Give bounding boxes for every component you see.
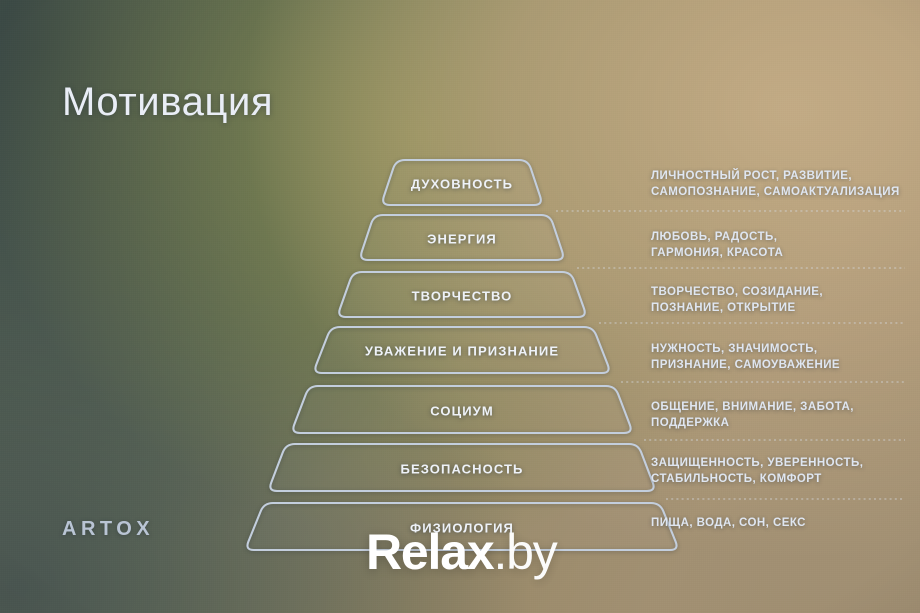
pyramid-tier-description: ЗАЩИЩЕННОСТЬ, УВЕРЕННОСТЬ,СТАБИЛЬНОСТЬ, … xyxy=(651,455,863,487)
artox-logo: ARTOX xyxy=(62,518,154,541)
watermark-tld-text: .by xyxy=(493,524,556,580)
presentation-slide: Мотивация ДУХОВНОСТЬЭНЕРГИЯТВОРЧЕСТВОУВА… xyxy=(0,0,920,613)
watermark-main-text: Relax xyxy=(366,524,493,580)
description-line: ЗАЩИЩЕННОСТЬ, УВЕРЕННОСТЬ, xyxy=(651,455,863,471)
pyramid-tier-label: ЭНЕРГИЯ xyxy=(427,231,497,246)
description-line: ЛЮБОВЬ, РАДОСТЬ, xyxy=(651,229,783,245)
description-line: ГАРМОНИЯ, КРАСОТА xyxy=(651,245,783,261)
pyramid-tier-description: ЛЮБОВЬ, РАДОСТЬ,ГАРМОНИЯ, КРАСОТА xyxy=(651,229,783,261)
description-line: САМОПОЗНАНИЕ, САМОАКТУАЛИЗАЦИЯ xyxy=(651,184,900,200)
pyramid-tier-description: НУЖНОСТЬ, ЗНАЧИМОСТЬ,ПРИЗНАНИЕ, САМОУВАЖ… xyxy=(651,341,840,373)
pyramid-tier-description: ПИЩА, ВОДА, СОН, СЕКС xyxy=(651,515,806,531)
pyramid-tier-label: ТВОРЧЕСТВО xyxy=(412,288,513,303)
relax-by-watermark: Relax.by xyxy=(366,527,557,577)
pyramid-tier-label: СОЦИУМ xyxy=(430,403,494,418)
page-title: Мотивация xyxy=(62,80,273,125)
description-line: ПОЗНАНИЕ, ОТКРЫТИЕ xyxy=(651,300,823,316)
pyramid-tier-description: ЛИЧНОСТНЫЙ РОСТ, РАЗВИТИЕ,САМОПОЗНАНИЕ, … xyxy=(651,168,900,200)
description-line: ЛИЧНОСТНЫЙ РОСТ, РАЗВИТИЕ, xyxy=(651,168,900,184)
pyramid-tier-description: ТВОРЧЕСТВО, СОЗИДАНИЕ,ПОЗНАНИЕ, ОТКРЫТИЕ xyxy=(651,284,823,316)
description-line: ТВОРЧЕСТВО, СОЗИДАНИЕ, xyxy=(651,284,823,300)
description-line: НУЖНОСТЬ, ЗНАЧИМОСТЬ, xyxy=(651,341,840,357)
description-line: ПИЩА, ВОДА, СОН, СЕКС xyxy=(651,515,806,531)
description-line: ОБЩЕНИЕ, ВНИМАНИЕ, ЗАБОТА, xyxy=(651,399,854,415)
pyramid-tier-description: ОБЩЕНИЕ, ВНИМАНИЕ, ЗАБОТА,ПОДДЕРЖКА xyxy=(651,399,854,431)
description-line: ПРИЗНАНИЕ, САМОУВАЖЕНИЕ xyxy=(651,357,840,373)
pyramid-tier-label: УВАЖЕНИЕ И ПРИЗНАНИЕ xyxy=(365,344,559,359)
description-line: СТАБИЛЬНОСТЬ, КОМФОРТ xyxy=(651,471,863,487)
description-line: ПОДДЕРЖКА xyxy=(651,415,854,431)
pyramid-tier-label: БЕЗОПАСНОСТЬ xyxy=(401,461,524,476)
pyramid-tier-label: ДУХОВНОСТЬ xyxy=(411,176,513,191)
